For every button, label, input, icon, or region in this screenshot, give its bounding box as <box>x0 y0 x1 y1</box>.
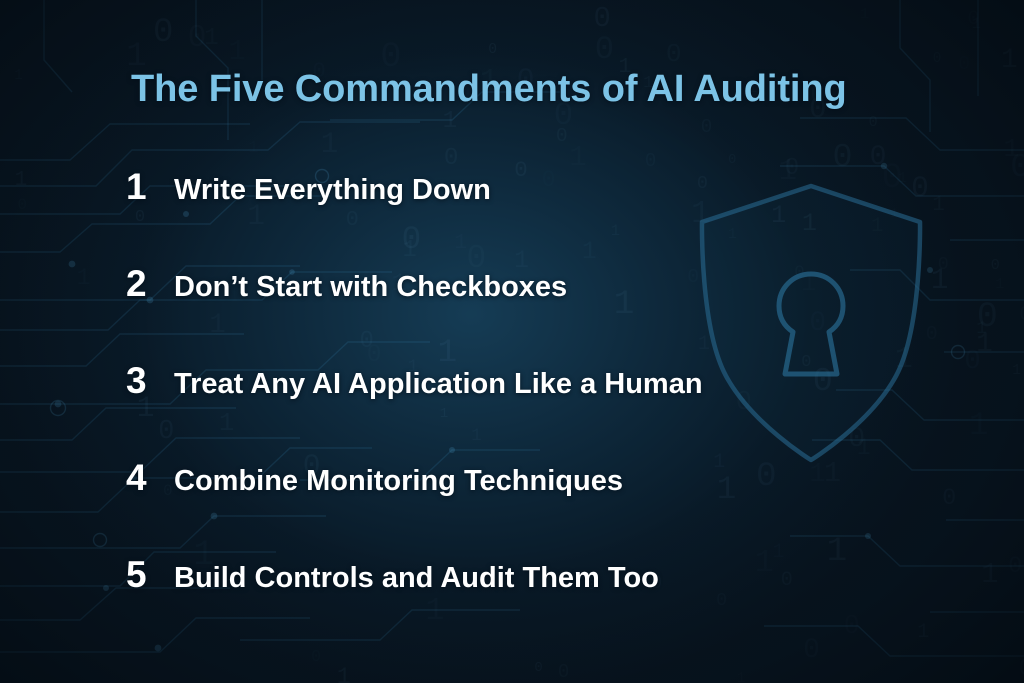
list-item: 1 Write Everything Down <box>126 168 886 265</box>
list-item-number: 5 <box>126 556 174 593</box>
list-item: 5 Build Controls and Audit Them Too <box>126 556 886 653</box>
list-item-number: 3 <box>126 362 174 399</box>
list-item-label: Build Controls and Audit Them Too <box>174 564 659 593</box>
list-item-label: Combine Monitoring Techniques <box>174 467 623 496</box>
list-item: 2 Don’t Start with Checkboxes <box>126 265 886 362</box>
list-item-label: Write Everything Down <box>174 176 491 205</box>
list-item-number: 4 <box>126 459 174 496</box>
list-item-number: 1 <box>126 168 174 205</box>
slide-canvas: 1000110011101101111000001101110001100001… <box>0 0 1024 683</box>
page-title: The Five Commandments of AI Auditing <box>131 68 847 111</box>
list-item-number: 2 <box>126 265 174 302</box>
list-item-label: Treat Any AI Application Like a Human <box>174 370 703 399</box>
list-item: 4 Combine Monitoring Techniques <box>126 459 886 556</box>
commandments-list: 1 Write Everything Down 2 Don’t Start wi… <box>126 168 886 653</box>
list-item: 3 Treat Any AI Application Like a Human <box>126 362 886 459</box>
list-item-label: Don’t Start with Checkboxes <box>174 273 567 302</box>
